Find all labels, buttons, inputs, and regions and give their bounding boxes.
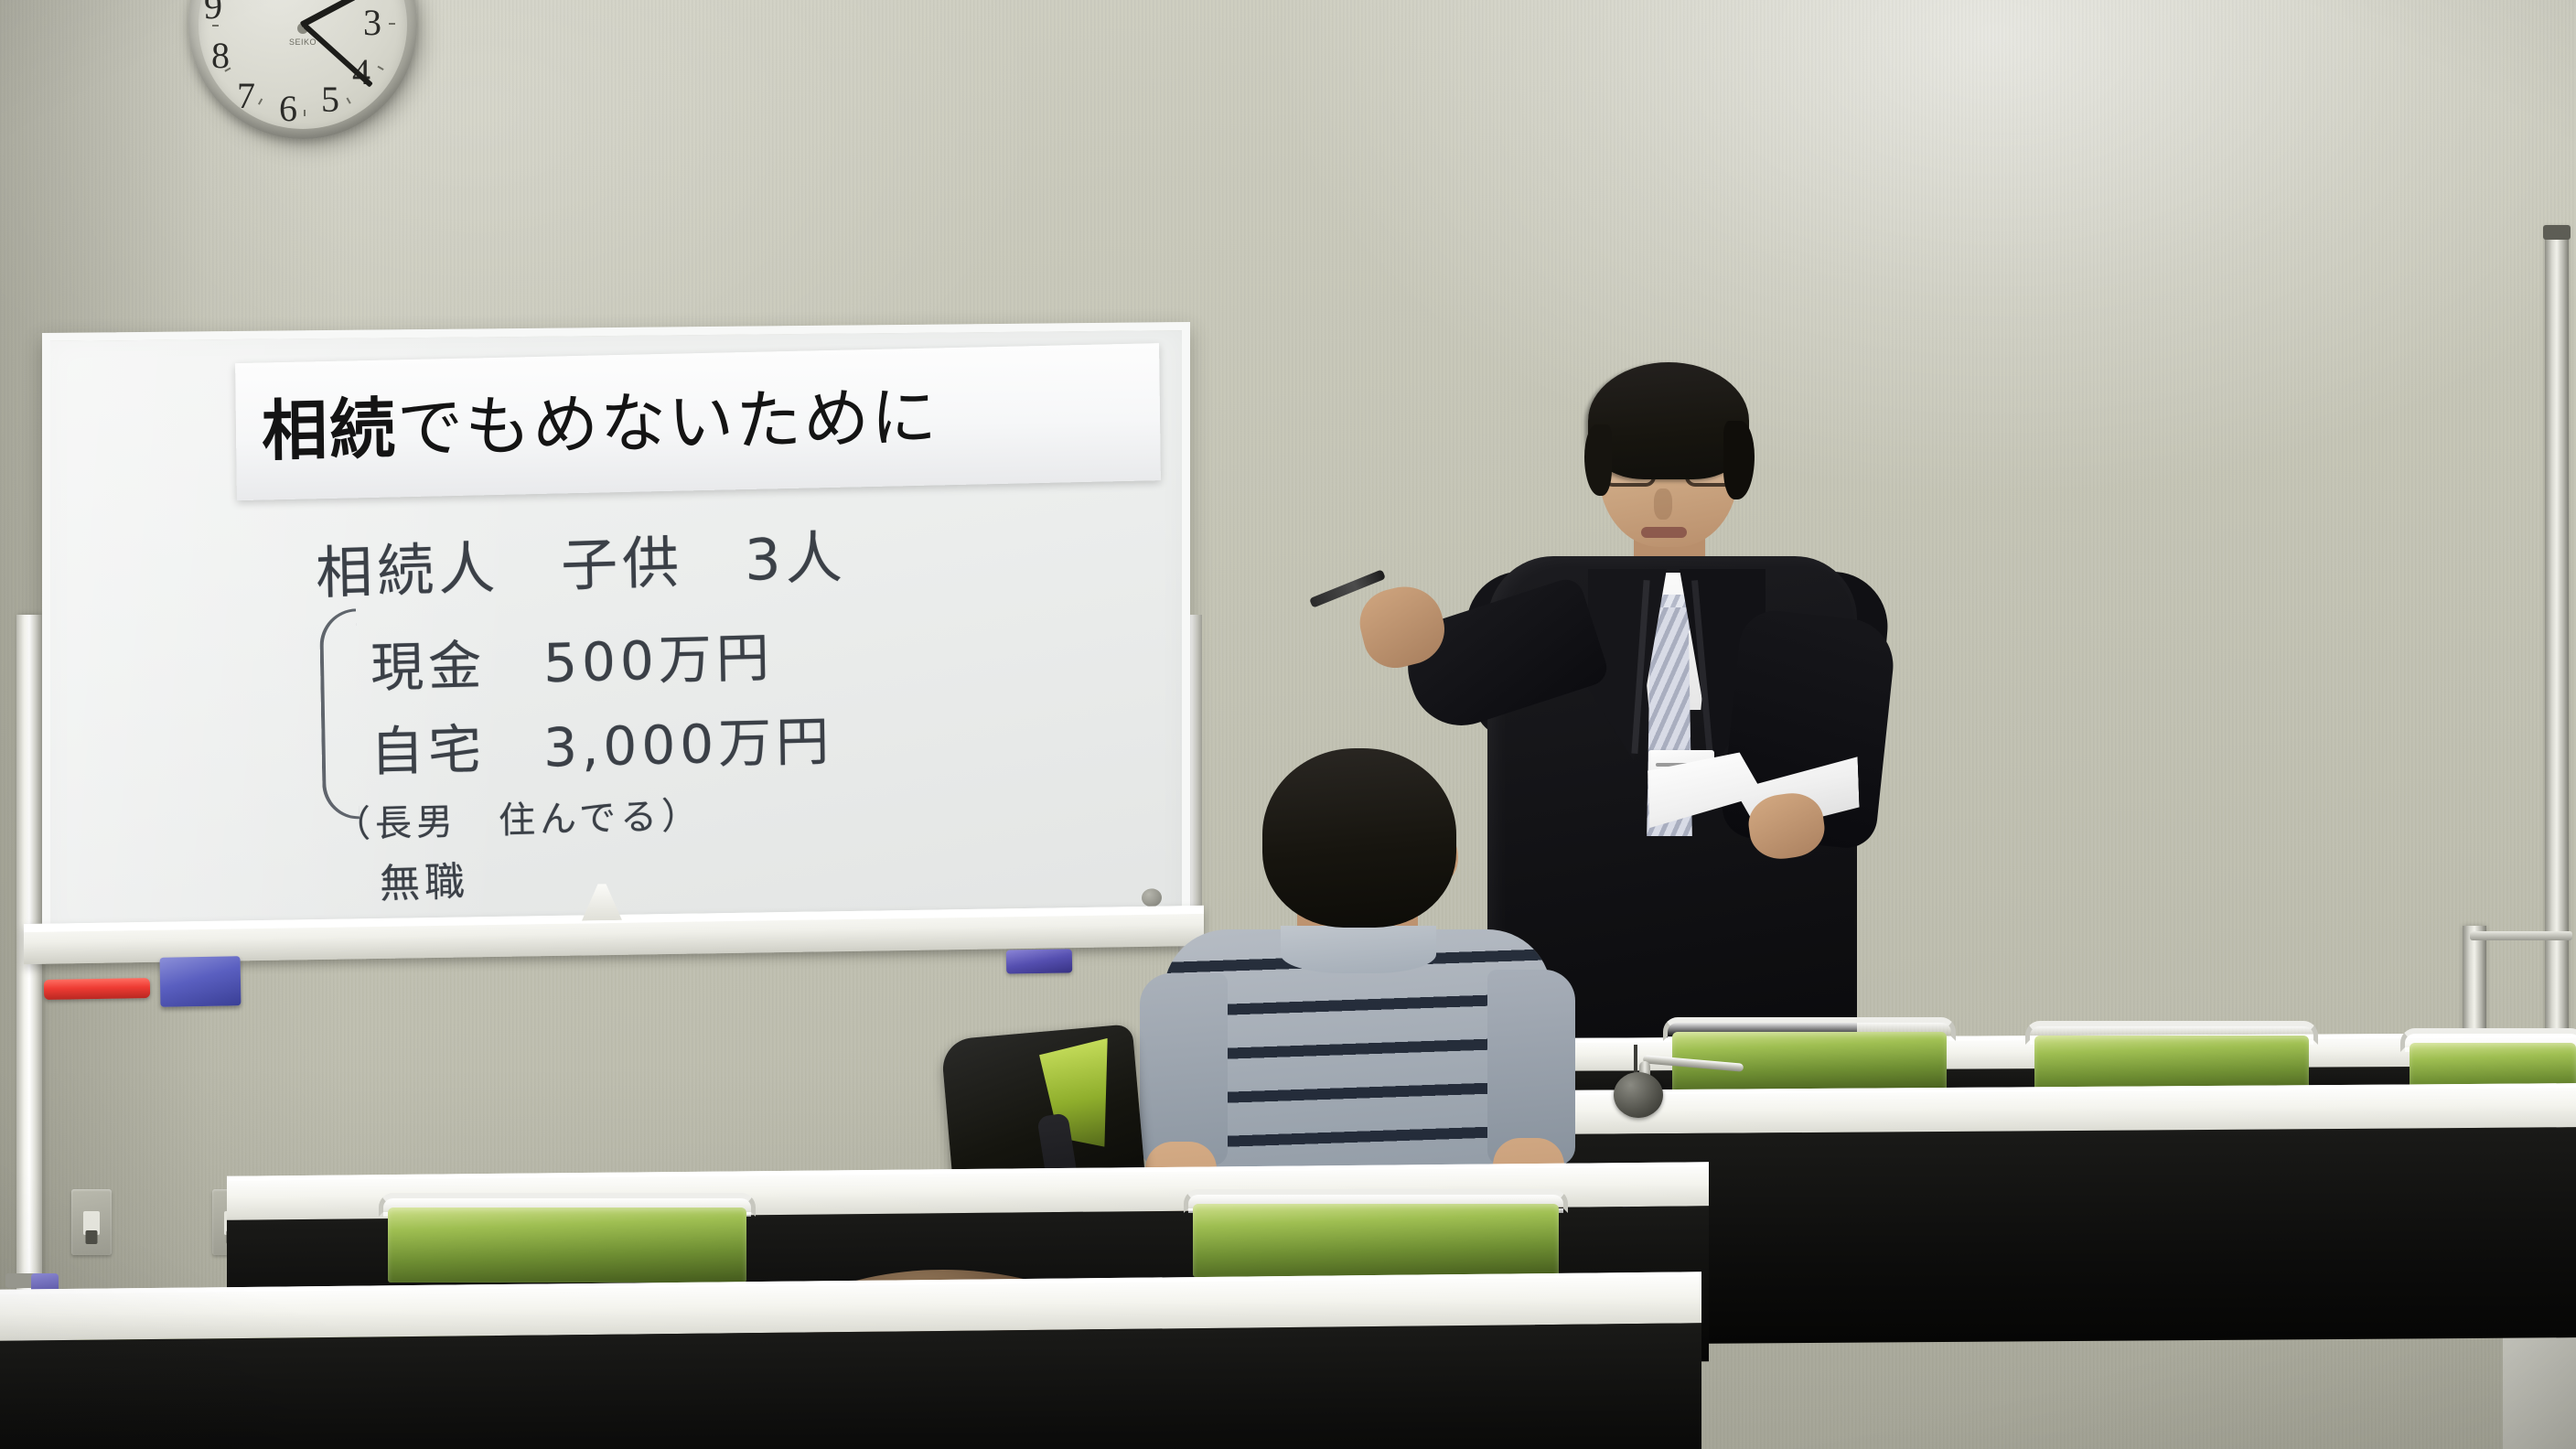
clock-numeral-5: 5 bbox=[312, 78, 349, 121]
whiteboard-surface: 相続でもめないために 相続人 子供 3人 現金 500万円 自宅 3,000万円… bbox=[50, 330, 1182, 939]
handwriting-line-5: 無職 bbox=[379, 849, 469, 910]
wall-outlet-left[interactable] bbox=[71, 1189, 112, 1255]
clock-numeral-3: 3 bbox=[354, 1, 391, 44]
clock-numeral-9: 9 bbox=[199, 0, 231, 27]
handwriting-line-4: （長男 住んでる） bbox=[334, 786, 703, 848]
desk-front-panel bbox=[0, 1323, 1701, 1449]
chair-row-2-left[interactable] bbox=[388, 1207, 746, 1283]
desk-front-panel bbox=[1570, 1127, 2576, 1345]
attendee-head bbox=[1262, 748, 1456, 928]
screen-stand-crossbar bbox=[2470, 931, 2572, 940]
red-marker[interactable] bbox=[44, 978, 150, 1000]
clock-numeral-7: 7 bbox=[228, 74, 264, 117]
chair-row-2-right[interactable] bbox=[1193, 1204, 1559, 1277]
microphone-gooseneck bbox=[1643, 1055, 1744, 1072]
attendee-sleeve-right bbox=[1487, 970, 1575, 1165]
blue-eraser[interactable] bbox=[160, 956, 241, 1007]
clock-numeral-8: 8 bbox=[202, 34, 239, 77]
chair-backrest bbox=[1193, 1204, 1559, 1277]
banner-text: 相続でもめないために bbox=[236, 383, 939, 465]
presenter-hair-side-right bbox=[1723, 421, 1755, 499]
banner-title-rest: でもめないために bbox=[397, 378, 939, 467]
gooseneck-microphone[interactable] bbox=[1608, 1048, 1745, 1112]
attendee-collar bbox=[1281, 926, 1436, 973]
presenter-mouth bbox=[1641, 527, 1687, 538]
clock-brand-label: SEIKO bbox=[289, 38, 317, 47]
wall-clock: 3 4 5 6 7 8 9 SEIKO bbox=[188, 0, 421, 143]
presenter-hair-side-left bbox=[1584, 424, 1612, 496]
chair-backrest bbox=[388, 1207, 746, 1283]
clock-numeral-4: 4 bbox=[343, 50, 380, 93]
outlet-slot-icon bbox=[86, 1230, 98, 1244]
screen-stand-pole-cap bbox=[2543, 225, 2571, 240]
handwriting-line-2: 現金 500万円 bbox=[370, 615, 774, 703]
clock-numeral-6: 6 bbox=[270, 87, 306, 129]
printed-title-banner: 相続でもめないために bbox=[235, 343, 1161, 500]
banner-title-bold: 相続 bbox=[262, 390, 398, 469]
microphone-head-icon bbox=[1614, 1072, 1663, 1118]
handwriting-line-1: 相続人 子供 3人 bbox=[315, 511, 847, 610]
purple-marker[interactable] bbox=[1006, 949, 1072, 973]
handwriting-brace bbox=[319, 608, 360, 820]
whiteboard[interactable]: 相続でもめないために 相続人 子供 3人 現金 500万円 自宅 3,000万円… bbox=[42, 322, 1190, 948]
presenter-nose bbox=[1654, 488, 1672, 520]
handwriting-line-3: 自宅 3,000万円 bbox=[370, 698, 833, 786]
seminar-room-photo: 3 4 5 6 7 8 9 SEIKO 相続でもめないために 相続人 bbox=[0, 0, 2576, 1449]
